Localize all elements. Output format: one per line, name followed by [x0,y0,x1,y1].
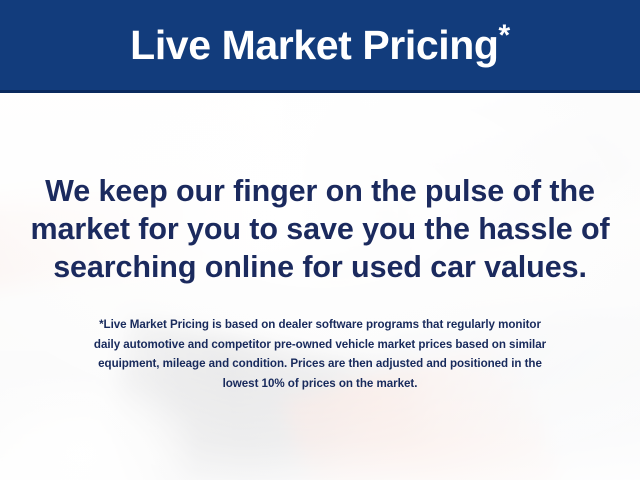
headline-line-1: We keep our finger on the pulse of the [20,172,620,210]
headline-line-2: market for you to save you the hassle of [20,210,620,248]
disclaimer-text: *Live Market Pricing is based on dealer … [20,315,620,393]
header-banner: Live Market Pricing* [0,0,640,93]
headline-line-3: searching online for used car values. [20,248,620,286]
headline: We keep our finger on the pulse of the m… [20,172,620,286]
disclaimer-line-2: daily automotive and competitor pre-owne… [20,335,620,355]
page-title-asterisk: * [499,19,510,52]
page-title-text: Live Market Pricing [130,22,498,68]
disclaimer-line-1: *Live Market Pricing is based on dealer … [20,315,620,335]
card-content: We keep our finger on the pulse of the m… [0,93,640,480]
live-market-pricing-card: Live Market Pricing* We keep our finger … [0,0,640,480]
disclaimer-line-4: lowest 10% of prices on the market. [20,374,620,394]
disclaimer-line-3: equipment, mileage and condition. Prices… [20,354,620,374]
page-title: Live Market Pricing* [130,21,510,69]
